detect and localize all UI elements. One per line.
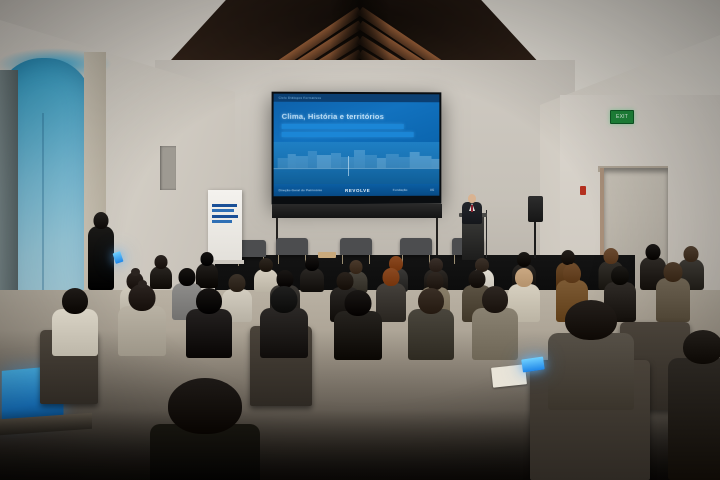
slide-title: Clima, História e territórios: [282, 112, 384, 121]
slide-eyebrow: Ciclo Diálogos Formativos: [279, 95, 322, 99]
slide-building: [308, 151, 317, 168]
audience-member: [88, 212, 114, 290]
audience-member-head: [94, 212, 109, 229]
audience-member: [260, 286, 308, 358]
slide-building: [317, 155, 331, 168]
banner-text-line: [212, 215, 238, 218]
presenter: [462, 194, 482, 222]
audience-member-head: [603, 248, 618, 264]
slide-building: [420, 156, 432, 168]
audience-member-torso: [118, 306, 166, 356]
audience-member-head: [646, 244, 661, 260]
slide-building: [296, 156, 308, 168]
audience-member-torso: [52, 309, 98, 356]
audience-member: [334, 290, 382, 360]
exit-sign-label: EXIT: [616, 114, 628, 120]
audience-member-head: [611, 266, 629, 285]
alcove-stone-joint: [42, 113, 44, 313]
audience-member-hair-bun: [131, 268, 140, 276]
slide-building: [410, 152, 420, 168]
audience-member: [548, 300, 634, 410]
audience-member-head: [565, 300, 617, 340]
audience-member: [668, 330, 720, 480]
conference-room-photo: EXIT Ciclo Diálogos Formativos Clima, Hi…: [0, 0, 720, 480]
fire-point-icon: [580, 186, 586, 195]
audience-member-torso: [548, 333, 634, 410]
audience-member-head: [201, 252, 214, 266]
slide-logo-center: REVOLVE: [345, 187, 370, 192]
audience-member: [186, 288, 232, 358]
audience-member-head: [305, 256, 319, 271]
banner-text-line: [212, 220, 232, 223]
microphone-stand: [486, 210, 487, 258]
audience-member-head: [563, 264, 581, 283]
audience-member-head: [383, 268, 400, 286]
audience-member-head: [683, 330, 720, 364]
projection-screen: Ciclo Diálogos Formativos Clima, Históri…: [272, 92, 442, 205]
slide-building: [278, 158, 288, 168]
slide-building: [365, 155, 377, 168]
audience-member-head: [515, 268, 533, 287]
slide-logo-left: Direção-Geral do Património: [279, 188, 323, 192]
audience-member: [52, 288, 98, 356]
audience-member-head: [429, 258, 443, 272]
audience-member-torso: [88, 226, 114, 290]
alcove-door-jamb: [0, 70, 18, 320]
audience-member-head: [62, 288, 88, 314]
stage-chair: [400, 238, 432, 255]
slide-footer: Direção-Geral do Património REVOLVE Fund…: [274, 184, 440, 197]
stage-chair: [276, 238, 308, 255]
presenter-head: [468, 194, 476, 203]
slide-mast: [348, 156, 349, 176]
audience-member: [472, 286, 518, 360]
audience-member-hair-bun: [138, 280, 147, 288]
audience-member-torso: [186, 309, 232, 358]
audience-member: [656, 262, 690, 322]
audience-member: [408, 288, 454, 360]
slide-building: [377, 158, 386, 168]
slide-waterline: [274, 168, 440, 169]
slide-subtitle-line-1: [282, 124, 404, 129]
slide-building: [431, 159, 439, 168]
exit-sign-icon: EXIT: [610, 110, 634, 124]
audience-member-head: [482, 286, 508, 313]
audience-member-head: [561, 250, 575, 265]
slide-subtitle-line-2: [282, 132, 414, 137]
audience-member: [150, 378, 260, 480]
slide-cityscape-image: [274, 142, 440, 184]
audience-member-head: [155, 255, 168, 269]
slide-logo-far-right: UE: [430, 188, 435, 192]
presenter-tie: [471, 205, 473, 212]
audience-member: [118, 284, 166, 356]
slide-logo-right: Fundação: [393, 188, 408, 192]
audience-member-head: [196, 288, 222, 314]
audience-member-torso: [472, 308, 518, 360]
slide-building: [288, 154, 296, 168]
audience-member-torso: [408, 309, 454, 360]
audience-member-head: [168, 378, 242, 434]
stage-chair: [340, 238, 372, 255]
audience-member-head: [337, 272, 354, 290]
audience-member-head: [271, 286, 298, 313]
audience-member-torso: [260, 308, 308, 358]
slide-building: [399, 157, 410, 168]
screen-bottom-bar: [272, 204, 442, 218]
audience-member-torso: [668, 358, 720, 480]
audience-member-head: [664, 262, 683, 282]
banner-text-line: [212, 204, 237, 207]
audience-member-torso: [334, 311, 382, 360]
audience-member-head: [418, 288, 444, 314]
audience-member-head: [129, 284, 156, 311]
audience-member-torso: [656, 278, 690, 322]
audience-member-head: [179, 268, 196, 286]
presentation-slide: Ciclo Diálogos Formativos Clima, Históri…: [274, 94, 440, 197]
audience-member-head: [517, 252, 531, 267]
wall-niche: [160, 146, 176, 190]
audience-member-head: [684, 246, 699, 262]
banner-text-line: [212, 209, 234, 212]
audience-member-head: [345, 290, 372, 316]
slide-building: [386, 154, 399, 168]
slide-building: [331, 153, 341, 168]
pa-speaker: [528, 196, 543, 222]
slide-building: [354, 150, 365, 168]
